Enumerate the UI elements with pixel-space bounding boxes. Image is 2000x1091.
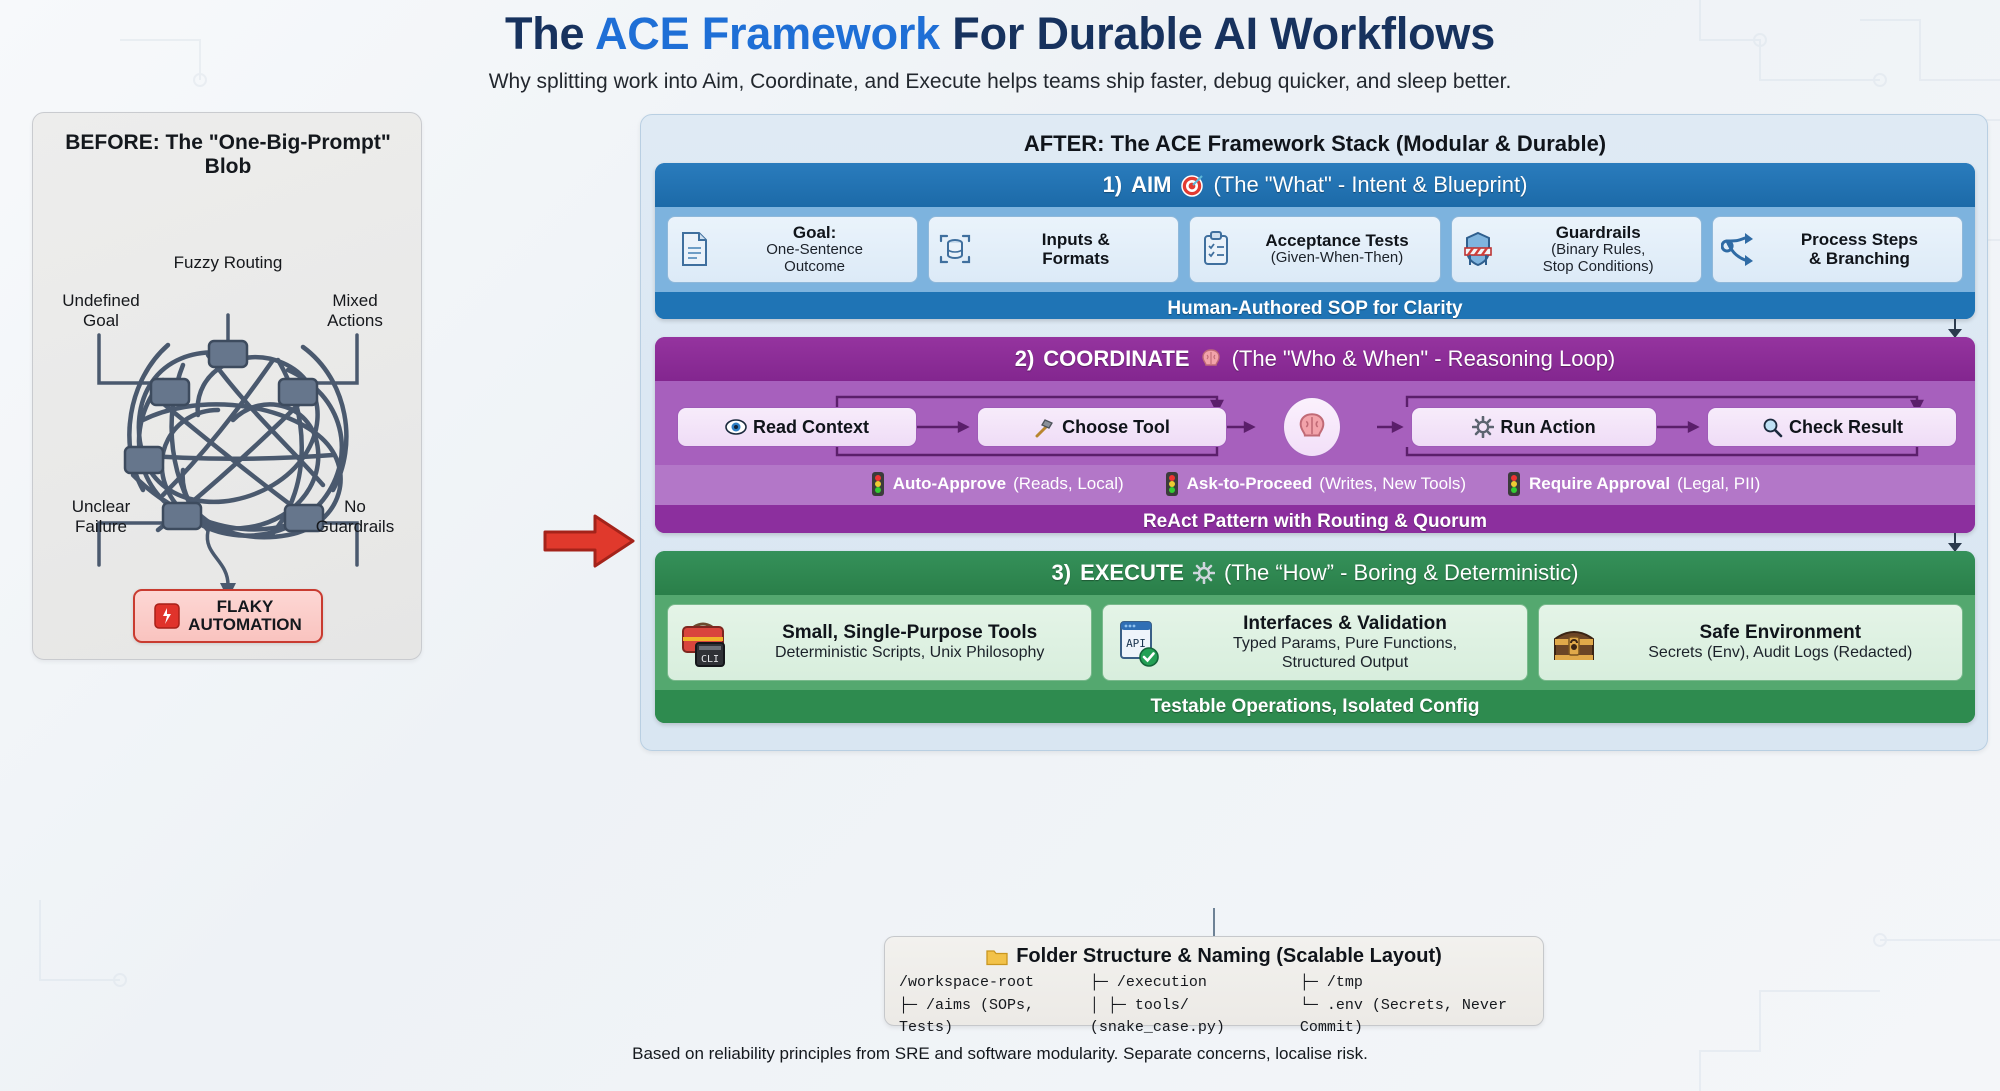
- exec-card-safe-env-detail: Secrets (Env), Audit Logs (Redacted): [1609, 644, 1952, 663]
- stage-execute-header: 3) EXECUTE (The “How” - Boring & Determi…: [655, 551, 1975, 595]
- loop-node-run-action-label: Run Action: [1500, 417, 1595, 438]
- treasure-chest-lock-icon: [1549, 617, 1599, 669]
- brain-icon: [1199, 347, 1223, 371]
- exec-card-interfaces-detail: Typed Params, Pure Functions,Structured …: [1173, 635, 1516, 672]
- exec-card-interfaces-title: Interfaces & Validation: [1173, 613, 1516, 635]
- aim-card-goal-detail: One-SentenceOutcome: [720, 242, 909, 276]
- after-panel-title: AFTER: The ACE Framework Stack (Modular …: [641, 131, 1989, 157]
- exec-card-small-tools-title: Small, Single-Purpose Tools: [738, 622, 1081, 644]
- approval-auto-approve-detail: (Reads, Local): [1013, 474, 1124, 494]
- clipboard-check-icon: [1198, 230, 1234, 268]
- brain-icon: [1295, 410, 1329, 444]
- folder-col3-line2: └─ .env (Secrets, Never Commit): [1300, 995, 1529, 1040]
- svg-text:CLI: CLI: [701, 654, 719, 665]
- aim-card-guardrails[interactable]: Guardrails (Binary Rules,Stop Conditions…: [1451, 216, 1702, 283]
- title-accent: ACE Framework: [595, 8, 940, 59]
- approval-require-approval-detail: (Legal, PII): [1677, 474, 1760, 494]
- aim-card-goal[interactable]: Goal: One-SentenceOutcome: [667, 216, 918, 283]
- folder-col1-line1: /workspace-root: [899, 972, 1090, 995]
- folder-icon: [986, 948, 1008, 966]
- folder-structure-title-row: Folder Structure & Naming (Scalable Layo…: [885, 945, 1543, 968]
- folder-col1-line2: ├─ /aims (SOPs, Tests): [899, 995, 1090, 1040]
- aim-card-acceptance-title: Acceptance Tests: [1242, 231, 1431, 250]
- tangled-blob-diagram: [33, 155, 423, 605]
- loop-node-choose-tool-label: Choose Tool: [1062, 417, 1170, 438]
- exec-card-safe-env-title: Safe Environment: [1609, 622, 1952, 644]
- connector-execute-to-folder: [1213, 908, 1215, 936]
- stage-coordinate-number: 2): [1015, 346, 1035, 372]
- traffic-light-icon: [1506, 471, 1522, 497]
- loop-node-read-context-label: Read Context: [753, 417, 869, 438]
- magnifier-icon: [1761, 416, 1783, 438]
- target-icon: [1180, 173, 1204, 197]
- loop-node-check-result-label: Check Result: [1789, 417, 1903, 438]
- folder-col3-line1: ├─ /tmp: [1300, 972, 1529, 995]
- folder-col2-line2: │ ├─ tools/ (snake_case.py): [1090, 995, 1300, 1040]
- loop-node-read-context[interactable]: Read Context: [677, 407, 917, 447]
- stage-aim-number: 1): [1103, 172, 1123, 198]
- blob-label-mixed-actions: MixedActions: [295, 291, 415, 330]
- flaky-automation-label: FLAKY AUTOMATION: [188, 598, 302, 634]
- stage-aim-header: 1) AIM (The "What" - Intent & Blueprint): [655, 163, 1975, 207]
- gear-icon: [1193, 562, 1215, 584]
- gear-icon: [1472, 416, 1494, 438]
- database-scan-icon: [937, 230, 973, 268]
- stage-coordinate: 2) COORDINATE (The "Who & When" - Reason…: [655, 337, 1975, 533]
- aim-card-inputs-title: Inputs &Formats: [981, 230, 1170, 268]
- stage-aim-name: AIM: [1131, 172, 1171, 198]
- page-footnote: Based on reliability principles from SRE…: [0, 1044, 2000, 1064]
- broken-heart-icon: [154, 602, 180, 630]
- page-subtitle: Why splitting work into Aim, Coordinate,…: [0, 70, 2000, 94]
- stage-aim-footer: Human-Authored SOP for Clarity: [655, 292, 1975, 319]
- red-right-arrow-icon: [543, 512, 635, 570]
- stage-execute-subtitle: (The “How” - Boring & Deterministic): [1224, 560, 1579, 586]
- aim-card-goal-title: Goal:: [720, 223, 909, 242]
- aim-card-acceptance-tests[interactable]: Acceptance Tests (Given-When-Then): [1189, 216, 1440, 283]
- folder-col2-line1: ├─ /execution: [1090, 972, 1300, 995]
- aim-card-guardrails-title: Guardrails: [1504, 223, 1693, 242]
- stage-execute-number: 3): [1052, 560, 1072, 586]
- document-icon: [676, 230, 712, 268]
- shield-barrier-icon: [1460, 230, 1496, 268]
- exec-card-small-tools[interactable]: CLI Small, Single-Purpose Tools Determin…: [667, 604, 1092, 681]
- stage-execute-cards: CLI Small, Single-Purpose Tools Determin…: [655, 595, 1975, 690]
- stage-aim-cards: Goal: One-SentenceOutcome Inputs &Format…: [655, 207, 1975, 292]
- stage-execute: 3) EXECUTE (The “How” - Boring & Determi…: [655, 551, 1975, 723]
- aim-card-process-steps[interactable]: Process Steps& Branching: [1712, 216, 1963, 283]
- svg-text:API: API: [1126, 637, 1146, 650]
- toolbox-cli-icon: CLI: [678, 617, 728, 669]
- loop-node-choose-tool[interactable]: Choose Tool: [977, 407, 1227, 447]
- stage-coordinate-name: COORDINATE: [1043, 346, 1189, 372]
- flaky-line-1: FLAKY: [217, 597, 274, 616]
- stage-coordinate-body: Read Context Choose Tool: [655, 381, 1975, 505]
- approval-ask-to-proceed: Ask-to-Proceed (Writes, New Tools): [1164, 471, 1466, 497]
- traffic-light-icon: [870, 471, 886, 497]
- blob-label-fuzzy-routing: Fuzzy Routing: [153, 253, 303, 273]
- exec-card-small-tools-detail: Deterministic Scripts, Unix Philosophy: [738, 644, 1081, 663]
- flaky-line-2: AUTOMATION: [188, 615, 302, 634]
- folder-col-2: ├─ /execution │ ├─ tools/ (snake_case.py…: [1090, 972, 1300, 1040]
- reasoning-loop-row: Read Context Choose Tool: [667, 389, 1963, 461]
- before-panel: BEFORE: The "One-Big-Prompt" Blob: [32, 112, 422, 660]
- blob-label-no-guardrails: NoGuardrails: [295, 497, 415, 536]
- page-title: The ACE Framework For Durable AI Workflo…: [0, 8, 2000, 60]
- aim-card-process-title: Process Steps& Branching: [1765, 230, 1954, 268]
- title-part-post: For Durable AI Workflows: [940, 8, 1495, 59]
- stage-coordinate-footer: ReAct Pattern with Routing & Quorum: [655, 505, 1975, 533]
- flaky-automation-badge: FLAKY AUTOMATION: [133, 589, 323, 643]
- aim-card-acceptance-detail: (Given-When-Then): [1242, 250, 1431, 267]
- page-header: The ACE Framework For Durable AI Workflo…: [0, 8, 2000, 94]
- folder-structure-title: Folder Structure & Naming (Scalable Layo…: [1016, 945, 1442, 968]
- folder-col-1: /workspace-root ├─ /aims (SOPs, Tests): [899, 972, 1090, 1040]
- hammer-icon: [1034, 416, 1056, 438]
- loop-node-check-result[interactable]: Check Result: [1707, 407, 1957, 447]
- eye-icon: [725, 416, 747, 438]
- branch-arrows-icon: [1721, 230, 1757, 268]
- approval-ask-to-proceed-detail: (Writes, New Tools): [1319, 474, 1466, 494]
- blob-label-undefined-goal: UndefinedGoal: [41, 291, 161, 330]
- approval-require-approval-label: Require Approval: [1529, 474, 1670, 494]
- title-part-pre: The: [505, 8, 595, 59]
- stage-aim-subtitle: (The "What" - Intent & Blueprint): [1213, 172, 1527, 198]
- stage-coordinate-header: 2) COORDINATE (The "Who & When" - Reason…: [655, 337, 1975, 381]
- stage-aim: 1) AIM (The "What" - Intent & Blueprint)…: [655, 163, 1975, 319]
- traffic-light-icon: [1164, 471, 1180, 497]
- api-check-icon: API: [1113, 617, 1163, 669]
- stage-execute-name: EXECUTE: [1080, 560, 1184, 586]
- approval-policy-row: Auto-Approve (Reads, Local) Ask-to-Proce…: [655, 465, 1975, 505]
- approval-auto-approve: Auto-Approve (Reads, Local): [870, 471, 1124, 497]
- after-panel: AFTER: The ACE Framework Stack (Modular …: [640, 114, 1988, 751]
- blob-label-unclear-failure: UnclearFailure: [41, 497, 161, 536]
- loop-hub-brain[interactable]: [1283, 397, 1341, 457]
- loop-node-run-action[interactable]: Run Action: [1411, 407, 1657, 447]
- approval-ask-to-proceed-label: Ask-to-Proceed: [1187, 474, 1313, 494]
- exec-card-interfaces-validation[interactable]: API Interfaces & Validation Typed Params…: [1102, 604, 1527, 681]
- folder-col-3: ├─ /tmp └─ .env (Secrets, Never Commit): [1300, 972, 1529, 1040]
- stage-execute-footer: Testable Operations, Isolated Config: [655, 690, 1975, 723]
- stage-coordinate-subtitle: (The "Who & When" - Reasoning Loop): [1232, 346, 1616, 372]
- aim-card-inputs-formats[interactable]: Inputs &Formats: [928, 216, 1179, 283]
- exec-card-safe-environment[interactable]: Safe Environment Secrets (Env), Audit Lo…: [1538, 604, 1963, 681]
- approval-require-approval: Require Approval (Legal, PII): [1506, 471, 1760, 497]
- folder-structure-box: Folder Structure & Naming (Scalable Layo…: [884, 936, 1544, 1026]
- aim-card-guardrails-detail: (Binary Rules,Stop Conditions): [1504, 242, 1693, 276]
- approval-auto-approve-label: Auto-Approve: [893, 474, 1006, 494]
- folder-structure-tree: /workspace-root ├─ /aims (SOPs, Tests) ├…: [885, 968, 1543, 1040]
- blob-svg: [33, 155, 423, 605]
